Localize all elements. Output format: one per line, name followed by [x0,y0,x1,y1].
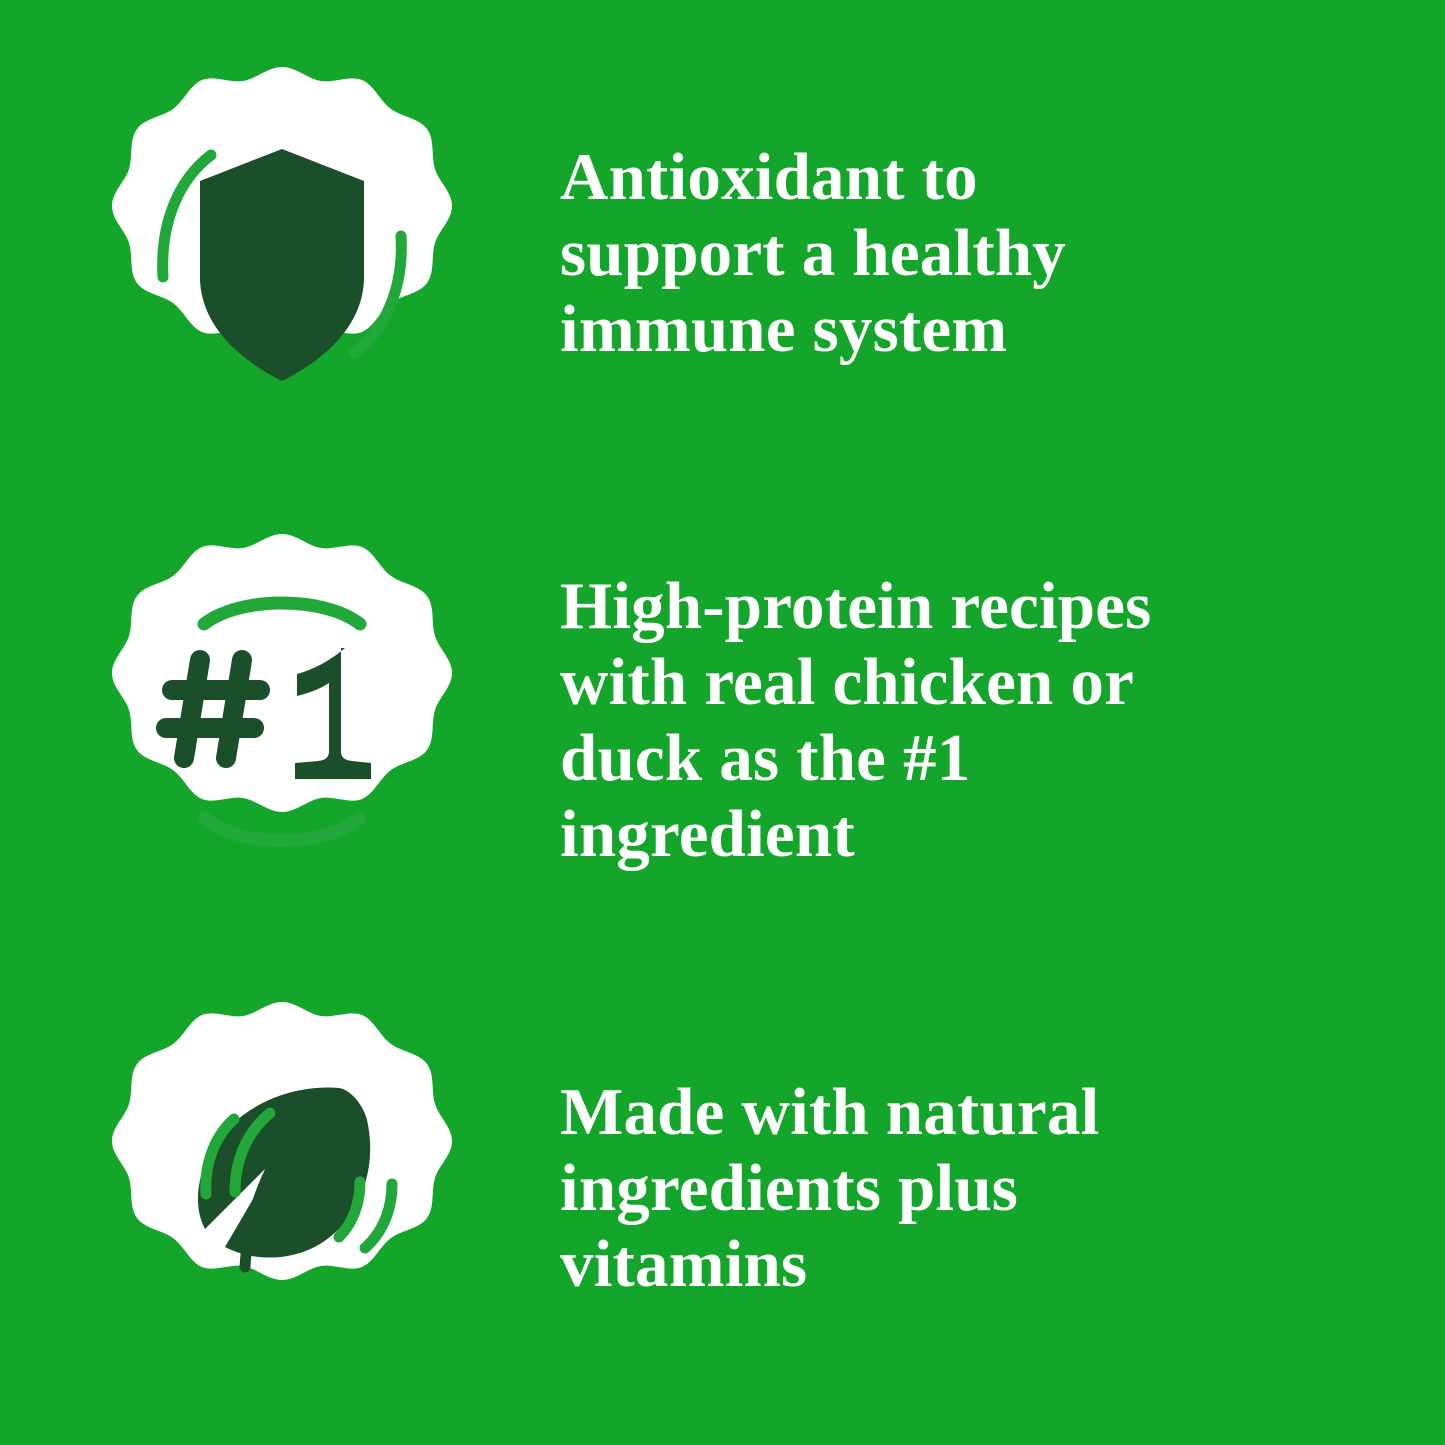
feature-row-natural: Made with natural ingredients plus vitam… [0,998,1445,1378]
feature-text-high-protein: High-protein recipes with real chicken o… [560,568,1180,872]
badge-antioxidant [92,63,472,443]
feature-highlights-panel: Antioxidant to support a healthy immune … [0,0,1445,1445]
feature-row-high-protein: High-protein recipes with real chicken o… [0,530,1445,910]
feature-text-antioxidant: Antioxidant to support a healthy immune … [560,139,1180,367]
badge-high-protein [92,530,472,910]
shield-icon [200,149,364,381]
scalloped-badge-shape [112,534,452,812]
feature-row-antioxidant: Antioxidant to support a healthy immune … [0,63,1445,443]
badge-natural [92,998,472,1378]
feature-text-natural: Made with natural ingredients plus vitam… [560,1074,1180,1302]
